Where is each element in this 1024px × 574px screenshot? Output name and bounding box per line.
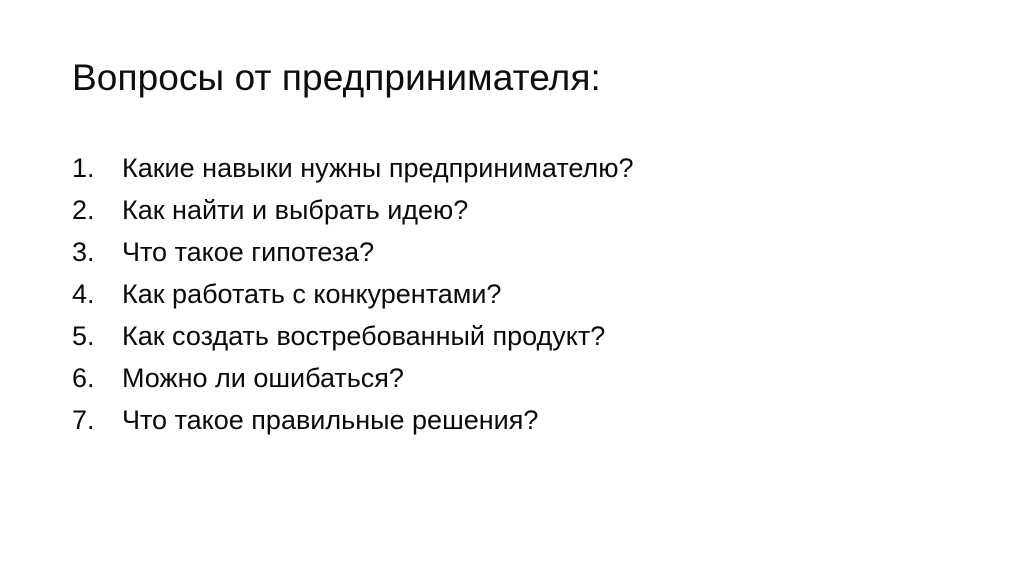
list-item: 1. Какие навыки нужны предпринимателю?	[72, 147, 932, 189]
list-item-number: 7.	[72, 399, 122, 441]
list-item: 5. Как создать востребованный продукт?	[72, 315, 932, 357]
list-item-text: Можно ли ошибаться?	[122, 357, 404, 399]
list-item: 6. Можно ли ошибаться?	[72, 357, 932, 399]
list-item-text: Как создать востребованный продукт?	[122, 315, 605, 357]
list-item: 2. Как найти и выбрать идею?	[72, 189, 932, 231]
list-item: 3. Что такое гипотеза?	[72, 231, 932, 273]
list-item: 4. Как работать с конкурентами?	[72, 273, 932, 315]
list-item-number: 5.	[72, 315, 122, 357]
list-item-number: 6.	[72, 357, 122, 399]
questions-list: 1. Какие навыки нужны предпринимателю? 2…	[72, 147, 932, 441]
slide-canvas: Вопросы от предпринимателя: 1. Какие нав…	[0, 0, 1024, 574]
page-title: Вопросы от предпринимателя:	[72, 58, 601, 99]
list-item-text: Что такое правильные решения?	[122, 399, 538, 441]
list-item-number: 2.	[72, 189, 122, 231]
list-item-text: Как работать с конкурентами?	[122, 273, 501, 315]
list-item-number: 3.	[72, 231, 122, 273]
list-item-number: 4.	[72, 273, 122, 315]
list-item-number: 1.	[72, 147, 122, 189]
list-item: 7. Что такое правильные решения?	[72, 399, 932, 441]
list-item-text: Что такое гипотеза?	[122, 231, 374, 273]
list-item-text: Какие навыки нужны предпринимателю?	[122, 147, 634, 189]
list-item-text: Как найти и выбрать идею?	[122, 189, 468, 231]
